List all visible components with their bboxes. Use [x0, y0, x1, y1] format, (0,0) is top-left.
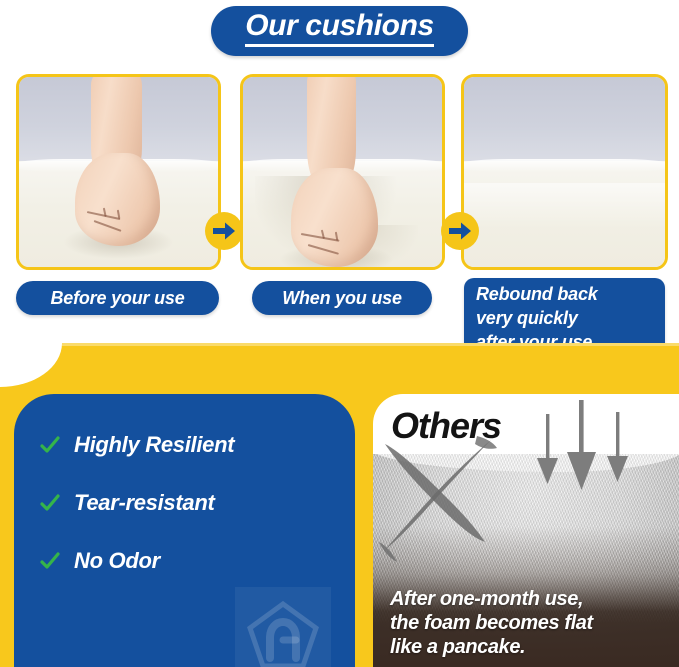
band-top-highlight — [0, 343, 679, 346]
step-2-caption-badge: When you use — [252, 281, 432, 315]
title-pill: Our cushions — [211, 6, 468, 56]
hand-fist-graphic — [19, 77, 218, 267]
photo-background-wall — [464, 77, 665, 166]
fist — [291, 168, 379, 267]
band-corner-cutout — [0, 343, 62, 387]
arrow-down-icon — [546, 414, 549, 462]
step-2-caption-text: When you use — [282, 288, 402, 309]
others-caption-line-2: the foam becomes flat — [390, 611, 673, 635]
step-3-caption-line-1: Rebound back — [476, 283, 653, 307]
benefit-item: No Odor — [40, 548, 345, 574]
arrow-right-icon — [441, 212, 479, 250]
knuckle-line — [93, 220, 121, 231]
benefit-item: Tear-resistant — [40, 490, 345, 516]
page-title-banner: Our cushions — [0, 6, 679, 56]
knuckle-line — [301, 233, 339, 241]
cushion-scene-before — [19, 77, 218, 267]
hand-fist-graphic — [243, 77, 442, 267]
knuckle-line — [308, 244, 339, 254]
step-1-photo — [16, 74, 221, 270]
benefit-label: No Odor — [74, 548, 160, 574]
step-3-caption-line-2: very quickly — [476, 307, 653, 331]
check-icon — [40, 493, 60, 513]
cushion-scene-pressed — [243, 77, 442, 267]
others-caption-line-1: After one-month use, — [390, 587, 673, 611]
benefits-list: Highly Resilient Tear-resistant No Odor — [40, 432, 345, 574]
benefit-label: Highly Resilient — [74, 432, 234, 458]
brush-cross-x-icon — [373, 430, 523, 570]
others-caption: After one-month use, the foam becomes fl… — [390, 587, 673, 659]
benefit-item: Highly Resilient — [40, 432, 345, 458]
cushion-rebound-sheen — [464, 183, 665, 229]
benefit-label: Tear-resistant — [74, 490, 215, 516]
check-icon — [40, 435, 60, 455]
title-underline — [245, 44, 434, 47]
comparison-photo-row — [0, 74, 679, 270]
others-comparison-panel: Others After one-month — [373, 394, 679, 667]
down-arrows-group — [523, 400, 653, 496]
check-icon — [40, 551, 60, 571]
step-2-photo — [240, 74, 445, 270]
cushion-scene-rebounded — [464, 77, 665, 267]
fist — [75, 153, 161, 246]
arrow-right-icon — [205, 212, 243, 250]
step-1-caption-text: Before your use — [50, 288, 184, 309]
step-1-caption-badge: Before your use — [16, 281, 219, 315]
others-caption-line-3: like a pancake. — [390, 635, 673, 659]
cushion-front-edge — [461, 159, 668, 172]
page-title: Our cushions — [245, 11, 434, 42]
knuckle-line — [335, 232, 338, 241]
house-pentagon-logo-icon — [235, 587, 331, 667]
step-3-photo — [461, 74, 668, 270]
ours-benefits-panel: Highly Resilient Tear-resistant No Odor — [14, 394, 355, 667]
